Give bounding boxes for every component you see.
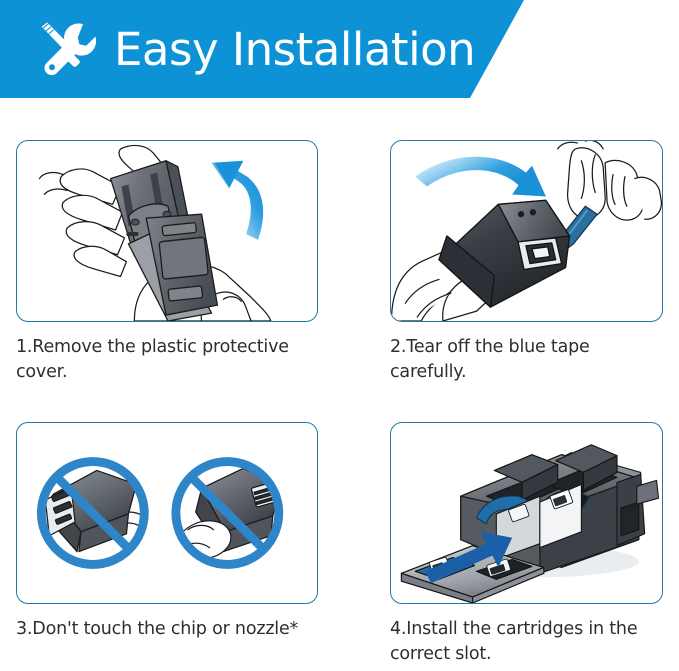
step-1-illustration-panel <box>16 140 318 322</box>
no-touch-nozzle-sign <box>41 462 152 565</box>
no-touch-chip-or-nozzle-illustration <box>17 423 317 603</box>
step-4: 4.Install the cartridges in the correct … <box>390 422 663 668</box>
wrench-screwdriver-icon <box>34 18 96 80</box>
step-1: 1.Remove the plastic protective cover. <box>16 140 318 386</box>
step-3-caption: 3.Don't touch the chip or nozzle* <box>16 617 318 642</box>
hand-peeling-blue-tape-illustration <box>391 141 662 321</box>
page-title: Easy Installation <box>114 27 475 72</box>
steps-grid: 1.Remove the plastic protective cover. <box>0 98 679 671</box>
curved-arrow-down-right-step-2 <box>415 157 546 197</box>
step-2-illustration-panel <box>390 140 663 322</box>
step-2: 2.Tear off the blue tape carefully. <box>390 140 663 386</box>
curved-arrow-up-left-step-1 <box>212 161 264 240</box>
hands-removing-plastic-protective-cover-illustration <box>17 141 317 321</box>
step-3-illustration-panel <box>16 422 318 604</box>
step-3: 3.Don't touch the chip or nozzle* <box>16 422 318 642</box>
step-1-caption: 1.Remove the plastic protective cover. <box>16 335 318 386</box>
step-4-caption: 4.Install the cartridges in the correct … <box>390 617 663 668</box>
no-touch-chip-sign <box>158 462 281 565</box>
step-2-caption: 2.Tear off the blue tape carefully. <box>390 335 663 386</box>
printer-carriage-install-cartridge-illustration <box>391 423 662 603</box>
step-4-illustration-panel <box>390 422 663 604</box>
header-banner-content: Easy Installation <box>0 0 524 98</box>
